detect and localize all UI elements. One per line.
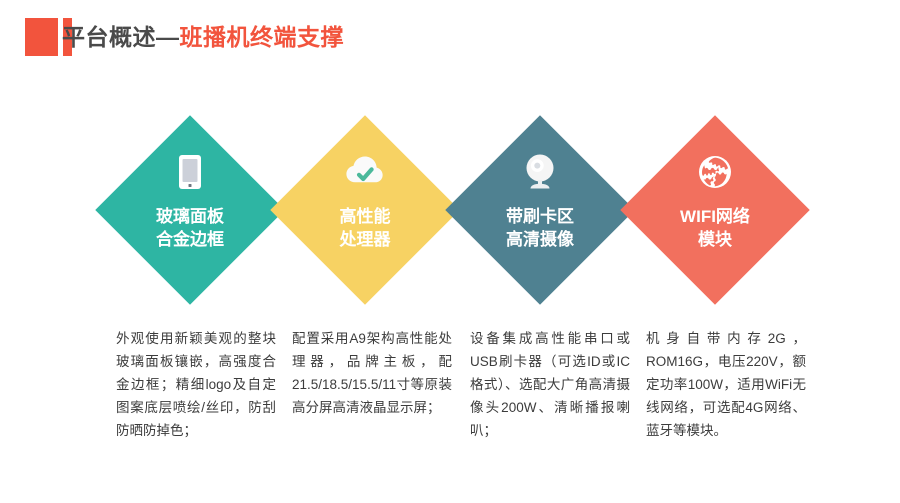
feature-diamond-label: WIFI网络 模块 [680, 205, 750, 251]
feature-diamond-processor[interactable]: 高性能 处理器 [270, 115, 460, 305]
feature-diamond-label: 带刷卡区 高清摄像 [506, 205, 574, 251]
feature-label-line1: 带刷卡区 [506, 207, 574, 226]
description-processor: 配置采用A9架构高性能处理器，品牌主板，配21.5/18.5/15.5/11寸等… [292, 327, 452, 419]
tablet-icon [167, 149, 213, 195]
feature-diamond-wifi[interactable]: WIFI网络 模块 [620, 115, 810, 305]
description-glass-panel: 外观使用新颖美观的整块玻璃面板镶嵌，高强度合金边框；精细logo及自定图案底层喷… [116, 327, 276, 442]
description-wifi: 机身自带内存2G，ROM16G，电压220V，额定功率100W，适用WiFi无线… [646, 327, 806, 442]
feature-diamond-glass-panel[interactable]: 玻璃面板 合金边框 [95, 115, 285, 305]
description-camera: 设备集成高性能串口或USB刷卡器（可选ID或IC格式）、选配大广角高清摄像头20… [470, 327, 630, 442]
webcam-icon [517, 149, 563, 195]
feature-diamond-camera[interactable]: 带刷卡区 高清摄像 [445, 115, 635, 305]
feature-label-line2: 高清摄像 [506, 230, 574, 249]
feature-diamond-label: 高性能 处理器 [340, 205, 391, 251]
feature-label-line2: 合金边框 [156, 230, 224, 249]
cloud-check-icon [342, 149, 388, 195]
feature-label-line1: WIFI网络 [680, 207, 750, 226]
feature-label-line1: 玻璃面板 [156, 207, 224, 226]
feature-diamond-label: 玻璃面板 合金边框 [156, 205, 224, 251]
feature-label-line2: 模块 [698, 230, 732, 249]
slide-canvas: 平台概述—班播机终端支撑 玻璃面板 合金边框 [0, 0, 900, 503]
description-columns: 外观使用新颖美观的整块玻璃面板镶嵌，高强度合金边框；精细logo及自定图案底层喷… [0, 327, 900, 467]
feature-label-line2: 处理器 [340, 230, 391, 249]
feature-label-line1: 高性能 [340, 207, 391, 226]
globe-icon [692, 149, 738, 195]
